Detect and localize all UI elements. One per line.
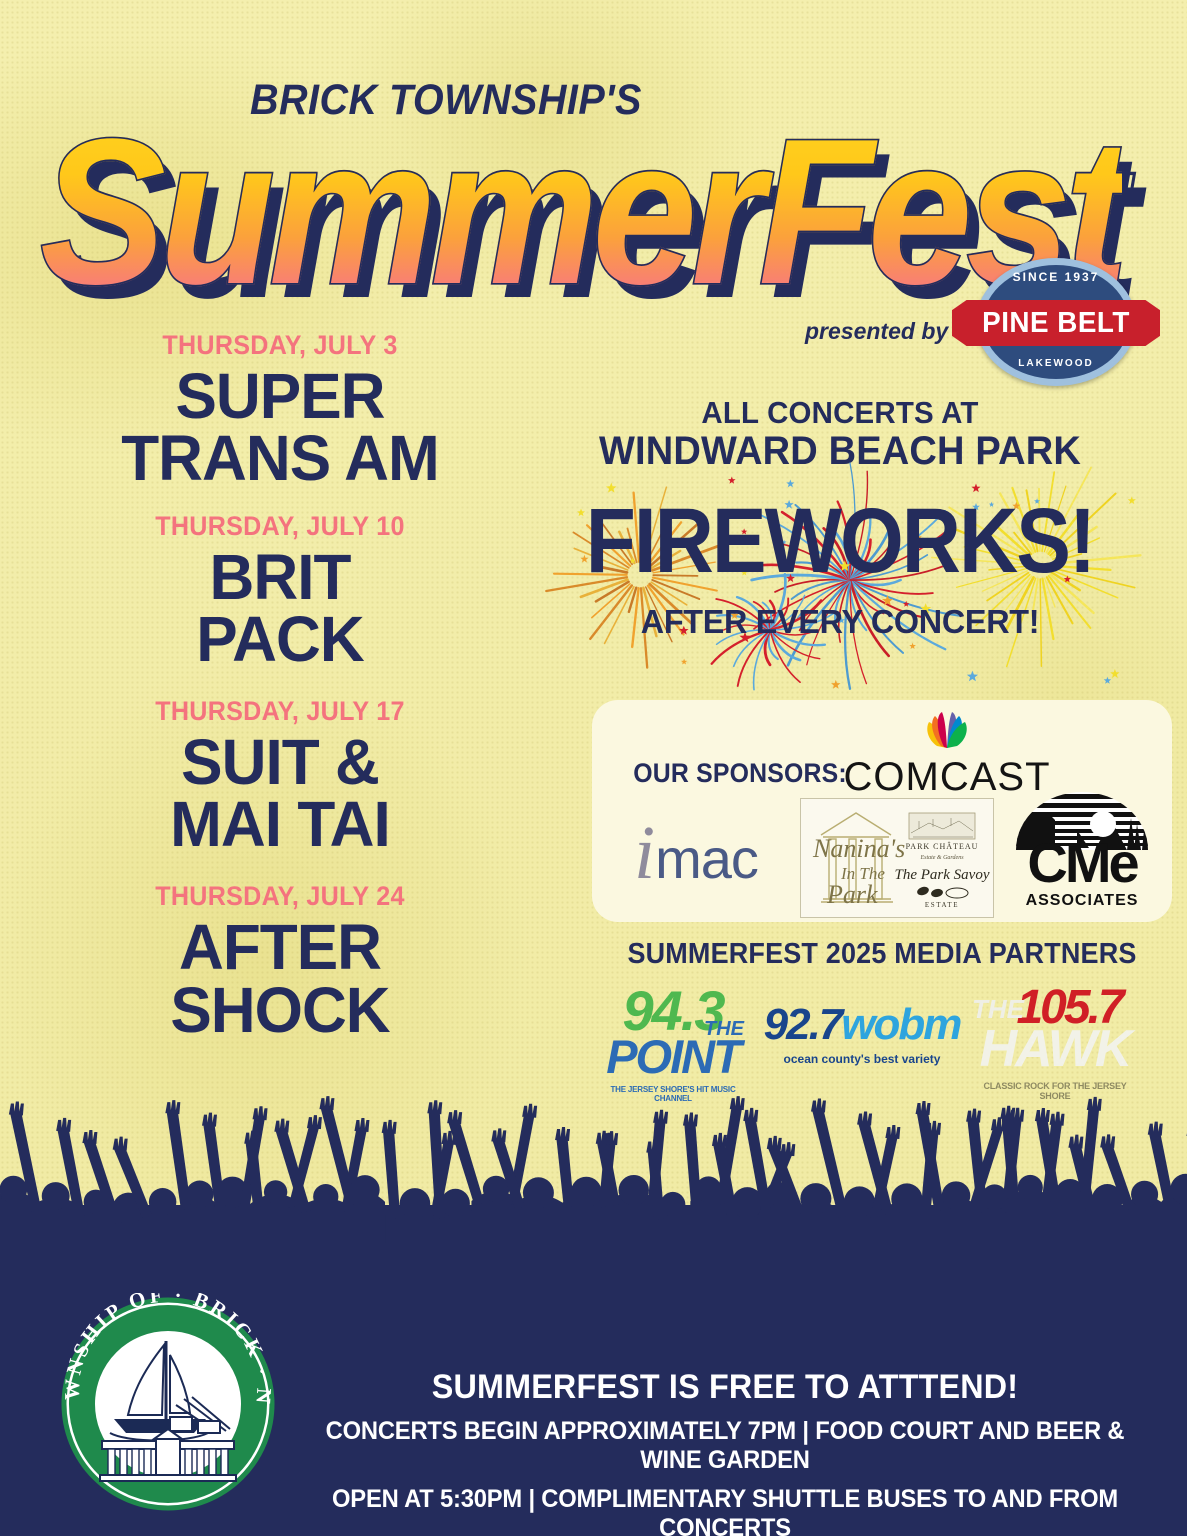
station-1057-name: HAWK — [970, 1019, 1140, 1079]
nbc-peacock-icon — [917, 708, 977, 750]
imac-mac: mac — [655, 827, 758, 890]
brick-township-seal: TOWNSHIP OF · BRICK · N.J. 1850 — [58, 1293, 278, 1515]
concert-date: THURSDAY, JULY 24 — [20, 881, 541, 912]
footer-info-line2: OPEN AT 5:30PM | COMPLIMENTARY SHUTTLE B… — [302, 1485, 1148, 1536]
pine-belt-banner: PINE BELT — [952, 300, 1160, 346]
concert-artist-line2: SHOCK — [8, 979, 551, 1041]
lineup-item: THURSDAY, JULY 17 SUIT & MAI TAI — [0, 696, 560, 855]
station-943-the: THE — [704, 1018, 744, 1041]
pine-belt-name: PINE BELT — [956, 300, 1156, 346]
park-savoy-label: The Park Savoy — [895, 867, 990, 883]
footer-info: SUMMERFEST IS FREE TO ATTTEND! CONCERTS … — [280, 1368, 1170, 1536]
concert-artist: BRIT PACK — [8, 546, 551, 670]
concert-artist-line1: AFTER — [8, 916, 551, 978]
naninas-name-line1: Nanina's — [812, 834, 905, 863]
concert-artist: AFTER SHOCK — [8, 916, 551, 1040]
park-savoy-sub: ESTATE — [925, 901, 959, 909]
station-927-name: wobm — [841, 1000, 960, 1049]
pine-belt-location-label: LAKEWOOD — [976, 358, 1136, 369]
station-927-tagline: ocean county's best variety — [762, 1052, 962, 1066]
concert-date: THURSDAY, JULY 3 — [20, 330, 541, 361]
footer-info-line1: CONCERTS BEGIN APPROXIMATELY 7PM | FOOD … — [302, 1417, 1148, 1475]
fireworks-headline: FIREWORKS! — [520, 489, 1160, 594]
imac-i: i — [634, 811, 655, 895]
imac-logo: imac — [634, 810, 758, 897]
presented-by-label: presented by — [805, 318, 948, 345]
concert-artist-line1: SUPER — [8, 365, 551, 427]
concert-artist-line2: TRANS AM — [8, 427, 551, 489]
concert-artist-line2: MAI TAI — [8, 793, 551, 855]
station-1057-hawk-logo: THE 105.7 HAWK CLASSIC ROCK FOR THE JERS… — [970, 980, 1140, 1101]
naninas-in-the-park-logo: Nanina's In The Park PARK CHÂTEAU Estate… — [800, 798, 994, 918]
concert-artist-line1: BRIT — [8, 546, 551, 608]
concert-artist: SUPER TRANS AM — [8, 365, 551, 489]
pine-belt-logo: SINCE 1937 LAKEWOOD PINE BELT — [952, 258, 1160, 388]
concert-artist-line2: PACK — [8, 608, 551, 670]
cme-associates-logo: CMe ASSOCIATES — [1007, 790, 1157, 918]
sponsors-label: OUR SPONSORS: — [633, 758, 847, 789]
media-partners-title: SUMMERFEST 2025 MEDIA PARTNERS — [612, 938, 1151, 971]
cme-wordmark: CMe — [1007, 830, 1157, 895]
park-chateau-label: PARK CHÂTEAU — [906, 841, 979, 851]
station-927-wobm-logo: 92.7wobm ocean county's best variety — [762, 1000, 962, 1066]
lineup-item: THURSDAY, JULY 24 AFTER SHOCK — [0, 881, 560, 1040]
lineup-item: THURSDAY, JULY 3 SUPER TRANS AM — [0, 330, 560, 489]
cme-associates-label: ASSOCIATES — [1007, 892, 1157, 910]
concert-lineup: THURSDAY, JULY 3 SUPER TRANS AM THURSDAY… — [0, 330, 560, 1053]
station-1057-the: THE — [972, 994, 1024, 1025]
naninas-name-line3: Park — [826, 880, 878, 909]
concert-artist-line1: SUIT & — [8, 731, 551, 793]
fireworks-block: FIREWORKS! AFTER EVERY CONCERT! — [520, 455, 1160, 700]
concert-date: THURSDAY, JULY 17 — [20, 696, 541, 727]
fireworks-text: FIREWORKS! AFTER EVERY CONCERT! — [520, 455, 1160, 641]
crowd-silhouette — [0, 1085, 1187, 1265]
naninas-logo-art: Nanina's In The Park PARK CHÂTEAU Estate… — [801, 799, 991, 915]
summerfest-poster: BRICK TOWNSHIP'S SummerFest SummerFest S… — [0, 0, 1187, 1536]
concert-artist: SUIT & MAI TAI — [8, 731, 551, 855]
free-to-attend-headline: SUMMERFEST IS FREE TO ATTTEND! — [302, 1368, 1148, 1407]
concert-date: THURSDAY, JULY 10 — [20, 511, 541, 542]
pine-belt-since-label: SINCE 1937 — [976, 270, 1136, 284]
comcast-logo: COMCAST — [842, 708, 1052, 800]
fireworks-subline: AFTER EVERY CONCERT! — [526, 603, 1153, 641]
park-chateau-sub: Estate & Gardens — [919, 855, 964, 861]
sponsors-panel: OUR SPONSORS: COMCAST imac — [592, 700, 1172, 922]
station-927-number: 92.7 — [764, 1000, 842, 1049]
venue-line1: ALL CONCERTS AT — [546, 395, 1135, 431]
lineup-item: THURSDAY, JULY 10 BRIT PACK — [0, 511, 560, 670]
